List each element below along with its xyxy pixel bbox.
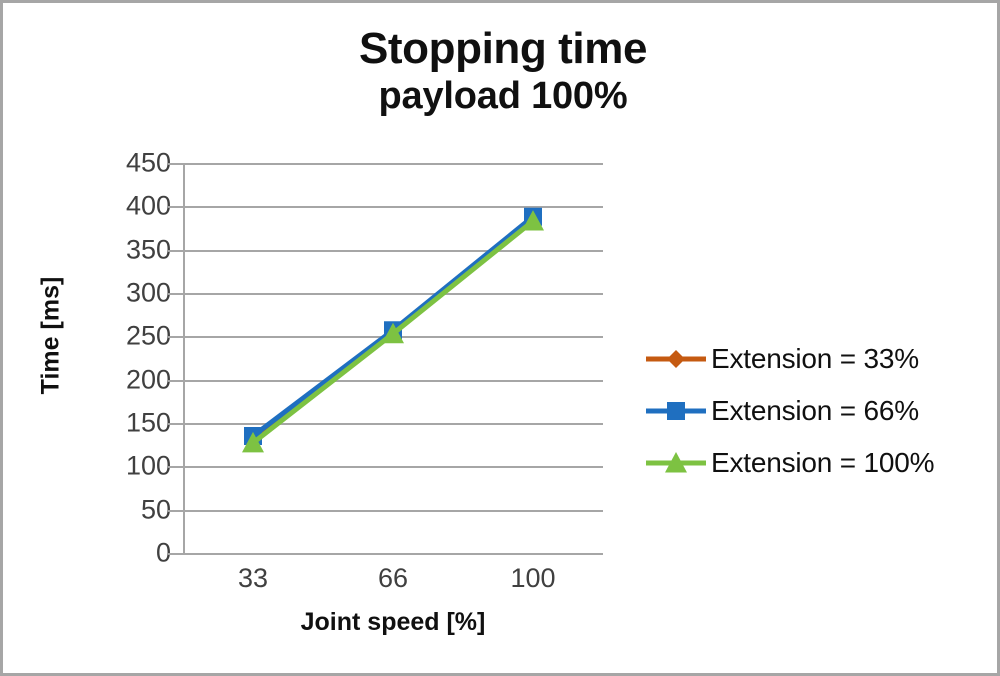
y-axis-tick-label: 50 — [93, 494, 171, 525]
chart-container: Stopping time payload 100% 4504003503002… — [0, 0, 1000, 676]
gridline — [168, 553, 603, 555]
y-axis-tick-label: 400 — [93, 191, 171, 222]
x-axis-title: Joint speed [%] — [183, 608, 603, 637]
y-axis-tick-label: 100 — [93, 451, 171, 482]
legend-square-icon — [645, 399, 707, 423]
series-3 — [242, 210, 544, 452]
y-axis-tick-label: 300 — [93, 278, 171, 309]
y-axis-tick-label: 450 — [93, 148, 171, 179]
legend-label: Extension = 66% — [711, 395, 919, 427]
legend-triangle-icon — [645, 451, 707, 475]
data-point-marker — [667, 402, 685, 420]
plot-area — [183, 163, 603, 553]
chart-subtitle: payload 100% — [3, 75, 1000, 118]
y-axis-tick-label: 200 — [93, 364, 171, 395]
chart-title-block: Stopping time payload 100% — [3, 25, 1000, 117]
x-axis-tick-label: 100 — [510, 563, 555, 594]
data-point-marker — [667, 350, 685, 368]
legend-label: Extension = 33% — [711, 343, 919, 375]
legend-item-2[interactable]: Extension = 66% — [645, 385, 990, 437]
series-layer — [183, 163, 603, 553]
chart-title: Stopping time — [3, 25, 1000, 73]
x-axis-tick-labels: 3366100 — [183, 563, 603, 603]
y-axis-tick-labels: 450400350300250200150100500 — [93, 163, 171, 553]
y-axis-tick-label: 350 — [93, 234, 171, 265]
legend-label: Extension = 100% — [711, 447, 934, 479]
y-axis-tick-label: 250 — [93, 321, 171, 352]
x-axis-tick-label: 33 — [238, 563, 268, 594]
y-axis-title: Time [ms] — [37, 236, 66, 436]
legend-item-3[interactable]: Extension = 100% — [645, 437, 990, 489]
y-axis-tick-label: 150 — [93, 408, 171, 439]
x-axis-tick-label: 66 — [378, 563, 408, 594]
chart-legend: Extension = 33%Extension = 66%Extension … — [645, 333, 990, 489]
legend-item-1[interactable]: Extension = 33% — [645, 333, 990, 385]
y-axis-tick-label: 0 — [93, 538, 171, 569]
legend-diamond-icon — [645, 347, 707, 371]
